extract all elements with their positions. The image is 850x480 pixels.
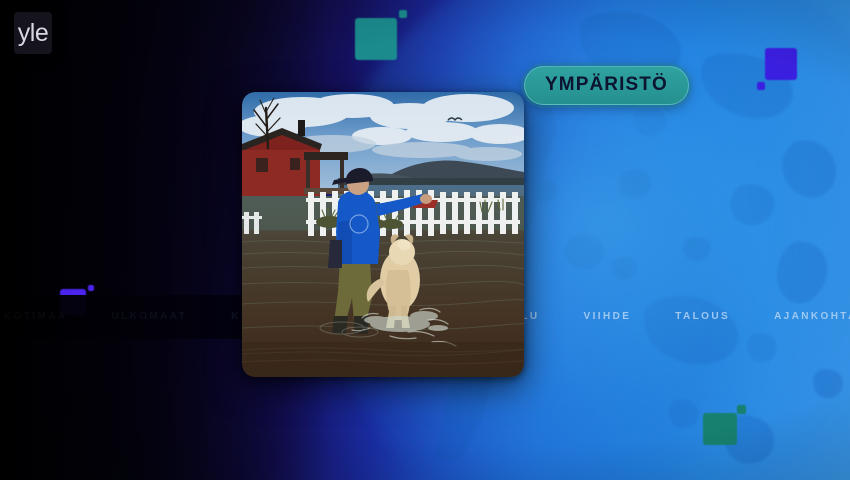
- category-badge[interactable]: YMPÄRISTÖ: [524, 66, 689, 105]
- yle-logo[interactable]: yle: [14, 12, 52, 54]
- teal-square-top-decoration: [355, 8, 415, 64]
- ticker-item: TALOUS: [675, 312, 730, 322]
- teal-square-bottom-decoration: [703, 405, 751, 449]
- ticker-item: VIIHDE: [584, 312, 632, 322]
- teal-square-bottom-dot: [737, 405, 746, 414]
- news-photo: [242, 92, 524, 377]
- broadcast-graphic-stage: KOTIMAA ULKOMAAT KULTTUURI YMPÄRISTÖ URH…: [0, 0, 850, 480]
- category-badge-label: YMPÄRISTÖ: [545, 74, 668, 95]
- yle-logo-text: yle: [18, 21, 48, 46]
- ticker-item: KOTIMAA: [4, 312, 67, 322]
- teal-square-bottom-shape: [703, 413, 737, 445]
- violet-square-dot: [88, 285, 94, 291]
- ticker-item: AJANKOHTAISUUS: [774, 312, 850, 322]
- blue-square-shape: [765, 48, 797, 80]
- blue-square-dot: [757, 82, 765, 90]
- ticker-item: ULKOMAAT: [111, 312, 187, 322]
- teal-square-dot: [399, 10, 407, 18]
- blue-square-right-decoration: [757, 48, 807, 96]
- teal-square-shape: [355, 18, 397, 60]
